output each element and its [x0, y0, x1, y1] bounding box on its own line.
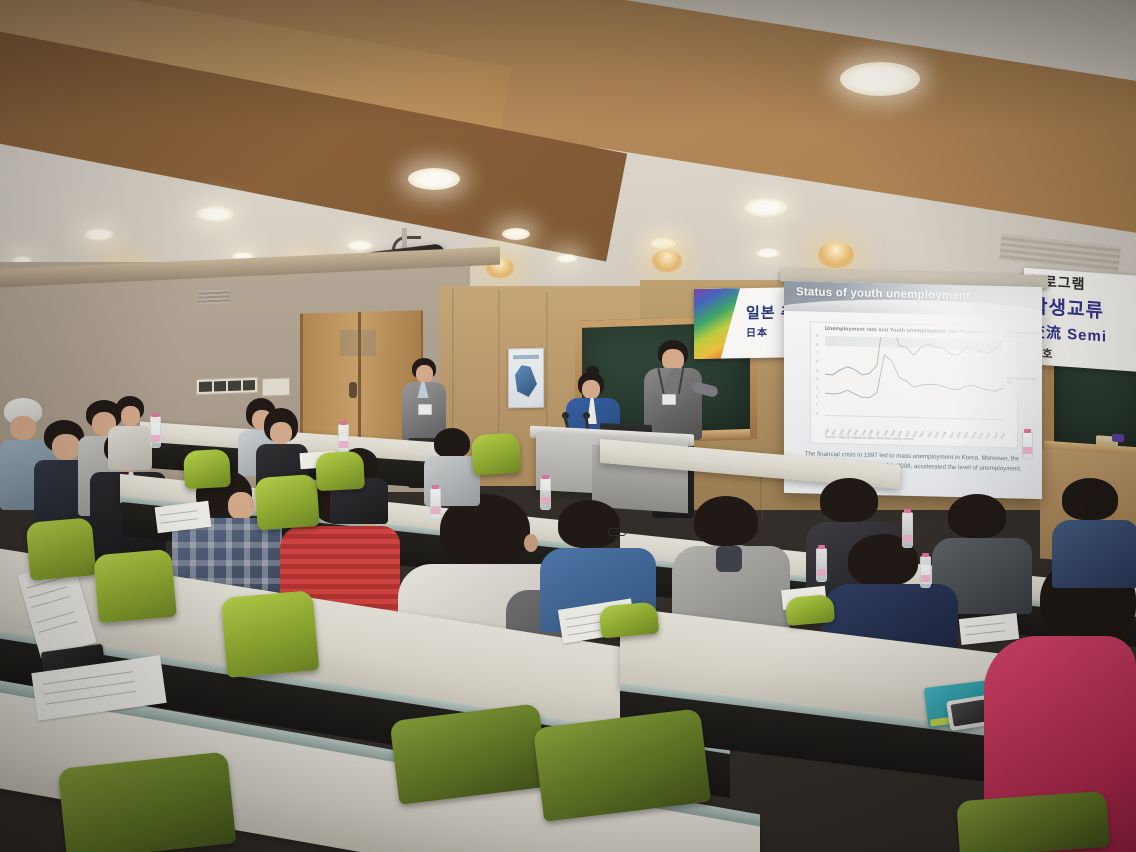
water-bottle[interactable]	[920, 556, 931, 588]
audience-face	[52, 434, 80, 460]
green-stacking-chair[interactable]	[599, 602, 660, 639]
water-bottle[interactable]	[540, 478, 551, 510]
banner-left-line2: 日本	[746, 328, 768, 339]
green-stacking-chair[interactable]	[785, 594, 835, 626]
recessed-downlight	[840, 62, 920, 96]
assistant-face	[416, 365, 433, 383]
water-bottle[interactable]	[338, 424, 349, 454]
audience-member-cardigan	[672, 496, 790, 630]
green-stacking-chair[interactable]	[58, 751, 237, 852]
recessed-downlight	[84, 228, 114, 241]
audience-member	[1052, 478, 1136, 588]
door-seam	[358, 312, 361, 452]
audience-hair	[820, 478, 878, 522]
blue-marker[interactable]	[1112, 434, 1124, 443]
green-stacking-chair[interactable]	[956, 791, 1110, 852]
ceiling-shadow	[0, 0, 1136, 130]
light-switch-panel[interactable]	[196, 377, 258, 395]
audience-hair	[948, 494, 1006, 538]
water-bottle[interactable]	[902, 512, 913, 548]
audience-member	[108, 396, 152, 472]
wall-poster	[508, 348, 544, 409]
recessed-downlight	[408, 168, 460, 190]
recessed-downlight	[744, 198, 788, 217]
light-switch-panel-secondary[interactable]	[262, 378, 290, 397]
door-handle[interactable]	[349, 382, 357, 398]
seminar-room-photo: 일본 츄오 日本 프로그램 학생교류 交流 Semi 18호 Status of…	[0, 0, 1136, 852]
recessed-downlight	[502, 228, 530, 240]
wall-air-vent	[198, 289, 230, 304]
audience-face	[10, 416, 36, 440]
green-stacking-chair[interactable]	[315, 451, 365, 491]
banner-right-line4: 18호	[1030, 344, 1136, 368]
green-stacking-chair[interactable]	[471, 433, 521, 475]
recessed-downlight	[196, 206, 234, 222]
presenter-badge	[662, 394, 676, 405]
audience-hair	[558, 500, 620, 548]
green-stacking-chair[interactable]	[26, 517, 97, 581]
water-bottle[interactable]	[430, 488, 441, 520]
recessed-downlight	[756, 248, 780, 258]
recessed-downlight	[347, 240, 373, 251]
audience-face	[121, 406, 140, 426]
recessed-downlight	[556, 254, 578, 263]
water-bottle[interactable]	[1022, 432, 1033, 460]
recessed-downlight	[650, 238, 676, 249]
green-stacking-chair[interactable]	[254, 474, 319, 530]
moderator-hair-bun	[586, 366, 599, 377]
green-stacking-chair[interactable]	[183, 449, 231, 489]
green-stacking-chair[interactable]	[93, 549, 177, 624]
audience-hair	[694, 496, 758, 546]
warm-wall-washer	[818, 242, 854, 268]
audience-hair	[434, 428, 470, 458]
audience-collar	[716, 546, 742, 572]
audience-hair	[1062, 478, 1118, 520]
eyeglasses	[608, 528, 626, 536]
audience-face	[228, 492, 254, 520]
assistant-badge	[418, 404, 432, 415]
audience-ear	[524, 534, 538, 552]
water-bottle[interactable]	[816, 548, 827, 582]
moderator-face	[582, 380, 600, 399]
audience-torso	[108, 426, 152, 470]
warm-wall-washer	[652, 250, 682, 272]
audience-torso	[1052, 520, 1136, 588]
audience-face	[270, 422, 292, 444]
green-stacking-chair[interactable]	[221, 590, 320, 678]
water-bottle[interactable]	[150, 416, 161, 448]
